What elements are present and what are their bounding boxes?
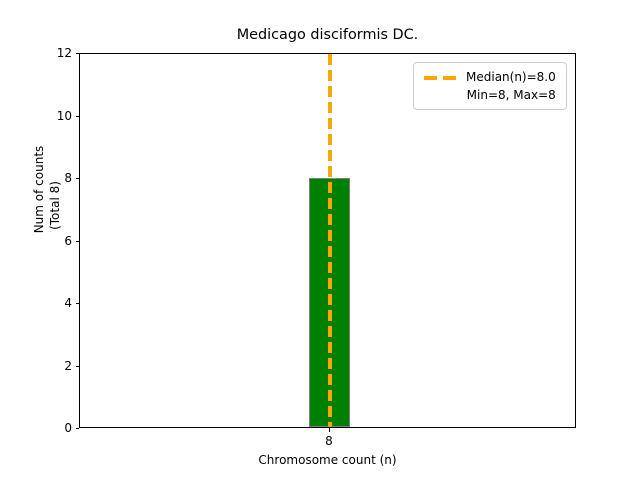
x-tick-mark — [329, 428, 330, 432]
legend-dashed-line-icon — [424, 70, 457, 86]
y-tick-mark — [76, 428, 80, 429]
chart-figure: Medicago disciformis DC. 0 2 4 6 8 10 12… — [0, 0, 640, 480]
median-line — [328, 54, 332, 427]
y-axis-label: Num of counts — [32, 2, 47, 377]
legend-text-group: Median(n)=8.0 Min=8, Max=8 — [466, 69, 556, 103]
legend-entry-minmax: Min=8, Max=8 — [467, 87, 556, 103]
legend-entry-median: Median(n)=8.0 — [466, 69, 556, 85]
x-tick-label: 8 — [325, 434, 333, 448]
x-axis-label: Chromosome count (n) — [79, 453, 576, 467]
legend: Median(n)=8.0 Min=8, Max=8 — [413, 62, 567, 110]
y-axis-total-label: (Total 8) — [48, 18, 63, 393]
chart-title: Medicago disciformis DC. — [79, 27, 576, 44]
